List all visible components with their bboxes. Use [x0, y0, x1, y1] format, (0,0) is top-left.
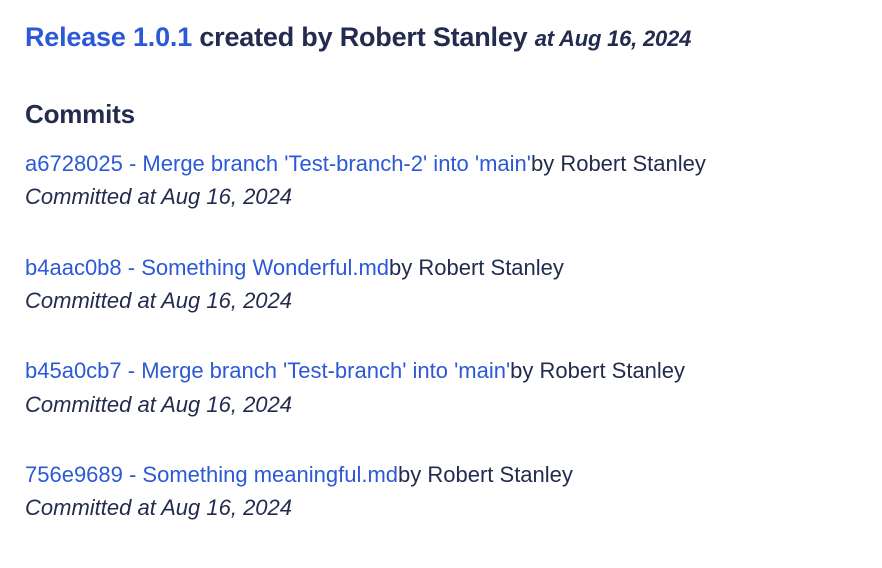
commit-link[interactable]: a6728025 - Merge branch 'Test-branch-2' … [25, 151, 531, 176]
release-created-by: created by Robert Stanley [192, 22, 535, 52]
release-header: Release 1.0.1 created by Robert Stanley … [25, 0, 857, 55]
commit-committed-at: Committed at Aug 16, 2024 [25, 387, 857, 420]
commit-committed-at: Committed at Aug 16, 2024 [25, 490, 857, 523]
commit-headline: a6728025 - Merge branch 'Test-branch-2' … [25, 149, 857, 179]
commit-link[interactable]: b4aac0b8 - Something Wonderful.md [25, 255, 389, 280]
commit-headline: 756e9689 - Something meaningful.mdby Rob… [25, 460, 857, 490]
commit-author: by Robert Stanley [531, 151, 706, 176]
commit-committed-at: Committed at Aug 16, 2024 [25, 283, 857, 316]
commit-author: by Robert Stanley [510, 358, 685, 383]
commits-section-title: Commits [25, 55, 857, 130]
release-name: Release 1.0.1 [25, 22, 192, 52]
commit-headline: b45a0cb7 - Merge branch 'Test-branch' in… [25, 356, 857, 386]
commit-committed-at: Committed at Aug 16, 2024 [25, 179, 857, 212]
commit-author: by Robert Stanley [389, 255, 564, 280]
list-item: 756e9689 - Something meaningful.mdby Rob… [25, 420, 857, 524]
commit-author: by Robert Stanley [398, 462, 573, 487]
release-date: at Aug 16, 2024 [535, 26, 691, 51]
commit-list: a6728025 - Merge branch 'Test-branch-2' … [25, 130, 857, 524]
release-page: Release 1.0.1 created by Robert Stanley … [0, 0, 882, 524]
commit-headline: b4aac0b8 - Something Wonderful.mdby Robe… [25, 253, 857, 283]
commit-link[interactable]: b45a0cb7 - Merge branch 'Test-branch' in… [25, 358, 510, 383]
commit-link[interactable]: 756e9689 - Something meaningful.md [25, 462, 398, 487]
list-item: b4aac0b8 - Something Wonderful.mdby Robe… [25, 213, 857, 317]
list-item: a6728025 - Merge branch 'Test-branch-2' … [25, 130, 857, 213]
list-item: b45a0cb7 - Merge branch 'Test-branch' in… [25, 316, 857, 420]
